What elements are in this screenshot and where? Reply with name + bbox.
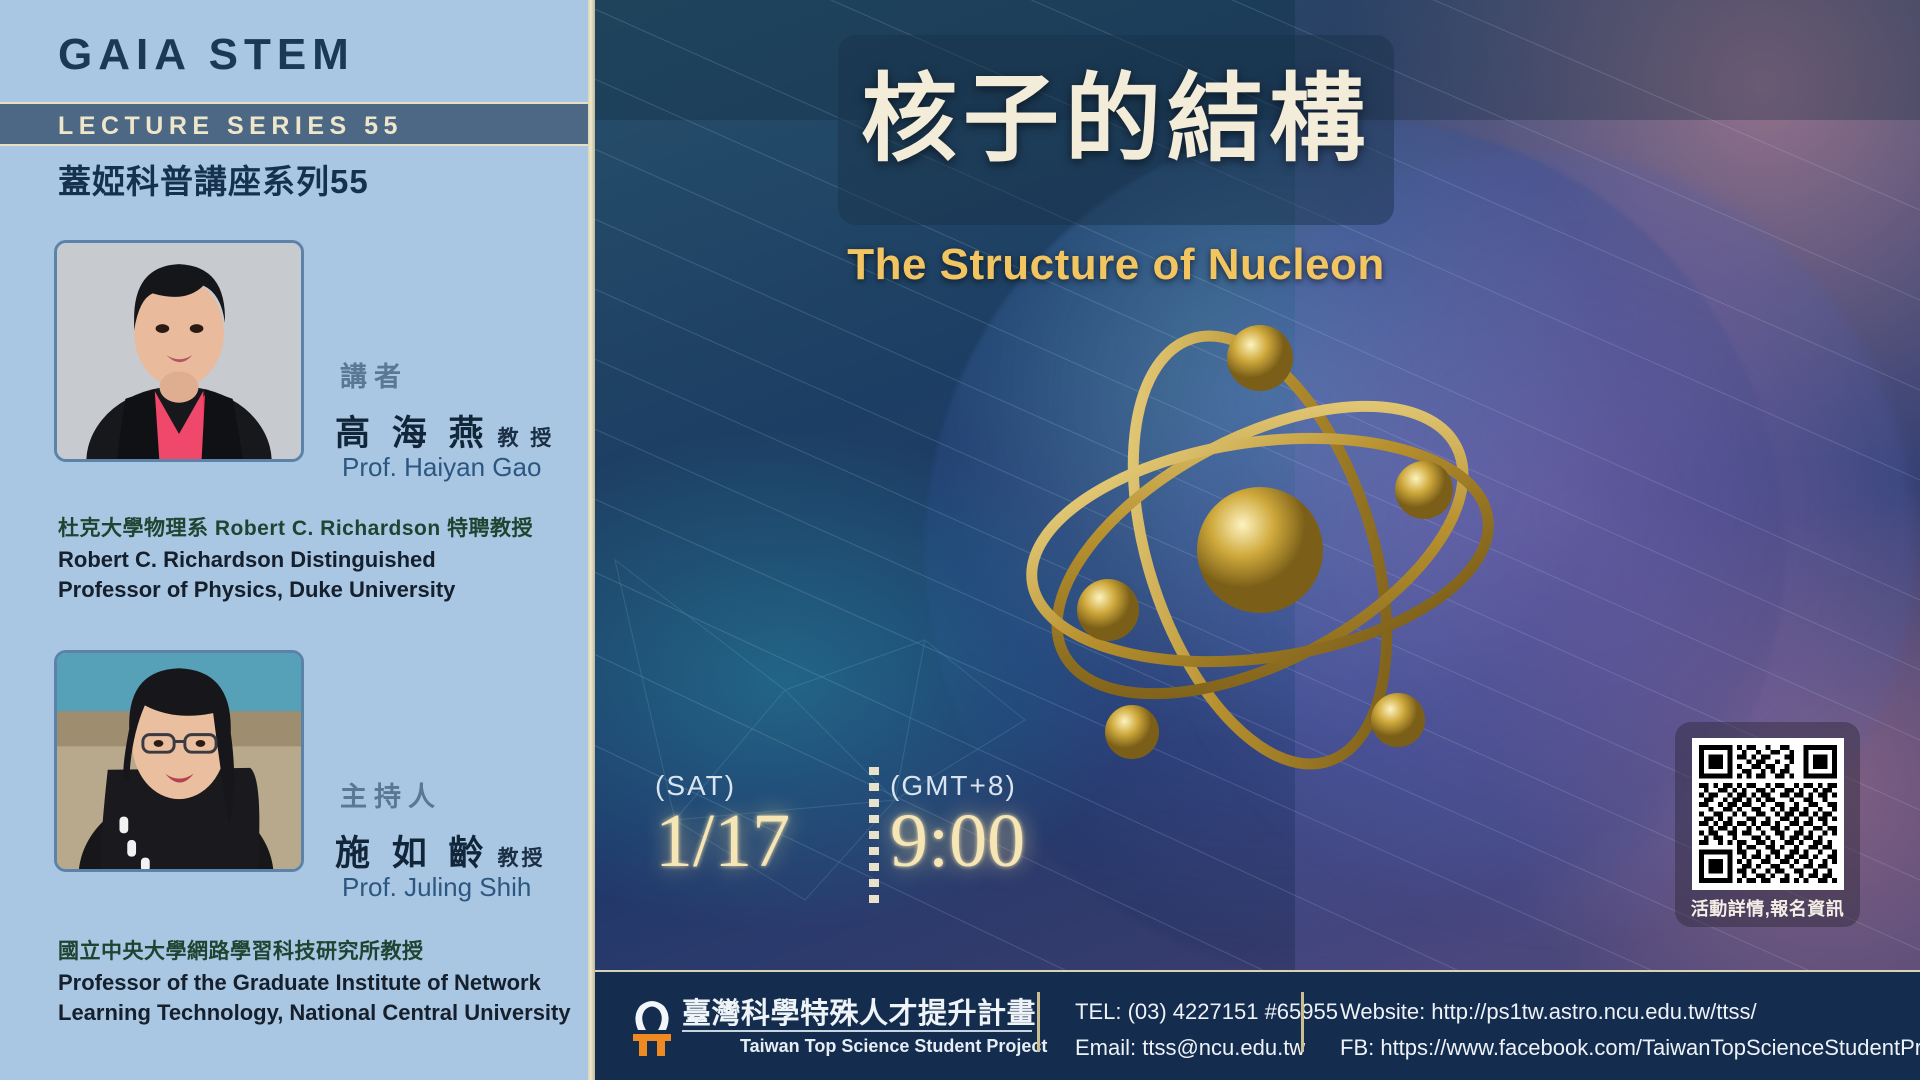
timezone-label: (GMT+8): [890, 770, 1025, 802]
left-info-panel: GAIA STEM LECTURE SERIES 55 蓋婭科普講座系列55: [0, 0, 595, 1080]
host-affiliation-cn: 國立中央大學網路學習科技研究所教授: [58, 935, 424, 965]
speaker-name-cn-text: 高 海 燕: [335, 414, 489, 453]
poster-art-panel: 核子的結構 The Structure of Nucleon: [595, 0, 1920, 1080]
speaker-affiliation-cn: 杜克大學物理系 Robert C. Richardson 特聘教授: [58, 512, 533, 542]
speaker-affiliation-en-line2: Professor of Physics, Duke University: [58, 575, 455, 605]
brand-title-en: GAIA STEM: [58, 30, 355, 80]
host-affiliation-en-line2: Learning Technology, National Central Un…: [58, 998, 571, 1028]
contact-info: TEL: (03) 4227151 #65955 Email: ttss@ncu…: [1075, 994, 1338, 1067]
speaker-affiliation-en-line1: Robert C. Richardson Distinguished: [58, 545, 455, 575]
lecture-title-en: The Structure of Nucleon: [798, 240, 1434, 290]
poster-footer: 臺灣科學特殊人才提升計畫 Taiwan Top Science Student …: [595, 970, 1920, 1080]
host-name-en: Prof. Juling Shih: [342, 872, 531, 903]
speaker-photo: [54, 240, 304, 462]
panel-divider-rule: [588, 0, 595, 1080]
footer-divider-2: [1301, 992, 1304, 1052]
website-link[interactable]: Website: http://ps1tw.astro.ncu.edu.tw/t…: [1340, 994, 1920, 1030]
lecture-title-cn: 核子的結構: [838, 55, 1394, 185]
lecture-poster: GAIA STEM LECTURE SERIES 55 蓋婭科普講座系列55: [0, 0, 1920, 1080]
atom-illustration: [950, 300, 1570, 800]
logo-underline: [682, 1030, 1032, 1032]
date-value: 1/17: [655, 802, 790, 882]
lecture-series-label: LECTURE SERIES 55: [58, 112, 403, 141]
online-links: Website: http://ps1tw.astro.ncu.edu.tw/t…: [1340, 994, 1920, 1067]
omega-pi-logo-icon: [630, 994, 674, 1056]
host-affiliation-en: Professor of the Graduate Institute of N…: [58, 968, 571, 1027]
qr-code-image[interactable]: [1692, 738, 1844, 890]
time-value: 9:00: [890, 802, 1025, 882]
host-affiliation-en-line1: Professor of the Graduate Institute of N…: [58, 968, 571, 998]
contact-email[interactable]: Email: ttss@ncu.edu.tw: [1075, 1030, 1338, 1066]
host-name-cn-text: 施 如 齡: [335, 834, 489, 873]
qr-caption: 活動詳情,報名資訊: [1675, 895, 1860, 921]
organization-name-cn: 臺灣科學特殊人才提升計畫: [682, 990, 1036, 1032]
time-column: (GMT+8) 9:00: [890, 770, 1025, 882]
speaker-name-cn: 高 海 燕教 授: [335, 405, 554, 456]
host-name-cn: 施 如 齡教授: [335, 825, 545, 876]
speaker-title-suffix: 教 授: [497, 427, 554, 450]
organization-name-en: Taiwan Top Science Student Project: [740, 1036, 1047, 1057]
speaker-affiliation-en: Robert C. Richardson Distinguished Profe…: [58, 545, 455, 604]
lecture-series-band: LECTURE SERIES 55: [0, 102, 595, 146]
day-of-week-label: (SAT): [655, 770, 790, 802]
schedule-divider: [869, 767, 879, 907]
contact-tel: TEL: (03) 4227151 #65955: [1075, 994, 1338, 1030]
speaker-name-en: Prof. Haiyan Gao: [342, 452, 541, 483]
host-title-suffix: 教授: [497, 847, 545, 870]
host-photo: [54, 650, 304, 872]
host-role-label: 主持人: [340, 775, 442, 814]
date-column: (SAT) 1/17: [655, 770, 790, 882]
footer-divider-1: [1037, 992, 1040, 1052]
speaker-role-label: 講者: [340, 355, 408, 394]
brand-title-cn: 蓋婭科普講座系列55: [58, 155, 369, 203]
facebook-link[interactable]: FB: https://www.facebook.com/TaiwanTopSc…: [1340, 1030, 1920, 1066]
